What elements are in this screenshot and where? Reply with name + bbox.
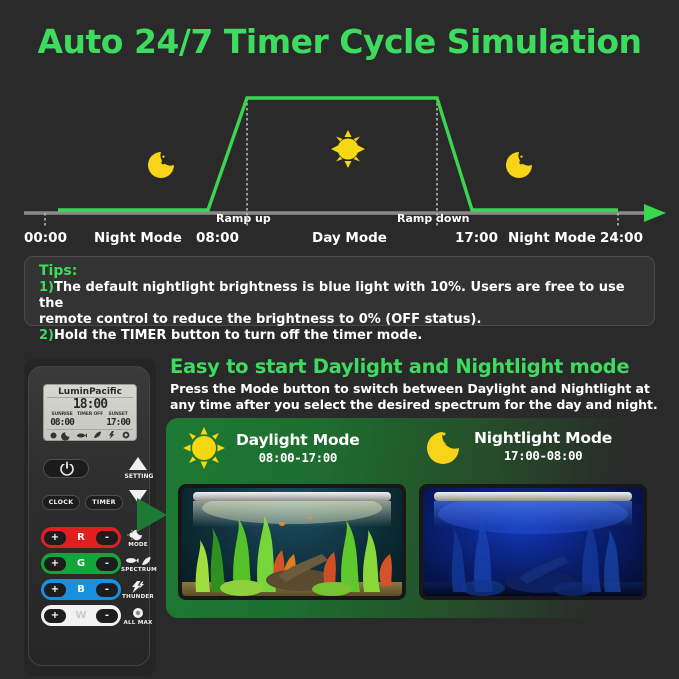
green-channel-label: G xyxy=(77,558,85,569)
red-plus-button[interactable]: + xyxy=(44,531,66,545)
chart-svg xyxy=(0,82,679,247)
daylight-mode-text: Daylight Mode 08:00-17:00 xyxy=(236,431,360,465)
tips-line-2: remote control to reduce the brightness … xyxy=(39,312,642,328)
white-channel-label: W xyxy=(75,610,86,621)
tips-number-2: 2) xyxy=(39,328,54,343)
tick-label-0800: 08:00 xyxy=(196,230,239,246)
moon-icon xyxy=(148,152,174,178)
lcd-sunset-col: SUNSET 17:00 xyxy=(104,412,132,428)
daylight-aquarium-image xyxy=(178,484,406,600)
spectrum-label: SPECTRUM xyxy=(121,567,157,573)
tips-text-1: The default nightlight brightness is blu… xyxy=(39,280,625,311)
spectrum-icon xyxy=(125,555,151,566)
white-channel-row[interactable]: + W - xyxy=(41,605,121,626)
daylight-mode-header: Daylight Mode 08:00-17:00 xyxy=(182,426,360,470)
axis-arrow-icon xyxy=(644,204,666,222)
setting-label: SETTING xyxy=(121,473,157,480)
moon-icon xyxy=(424,426,464,466)
red-channel-row[interactable]: + R - xyxy=(41,527,121,548)
thunder-button[interactable]: THUNDER xyxy=(121,581,155,600)
easy-sub-line-2: after you select the desired spectrum fo… xyxy=(236,397,658,412)
nightlight-mode-text: Nightlight Mode 17:00-08:00 xyxy=(474,429,612,463)
nightlight-light-glow xyxy=(434,501,632,527)
blue-channel-row[interactable]: + B - xyxy=(41,579,121,600)
mode-comparison-panel: Daylight Mode 08:00-17:00 Nightlight Mod… xyxy=(166,418,662,618)
timer-button[interactable]: TIMER xyxy=(85,495,123,510)
lcd-caption-row: SUNRISE 08:00 TIMER OFF SUNSET 17:00 xyxy=(47,412,133,428)
callout-pointer-icon xyxy=(137,498,167,532)
sun-icon xyxy=(331,130,365,168)
page-title: Auto 24/7 Timer Cycle Simulation xyxy=(0,22,679,61)
remote-lcd-screen: LuminPacific 18:00 SUNRISE 08:00 TIMER O… xyxy=(43,384,137,441)
lcd-timer-value xyxy=(76,418,104,428)
tick-label-1700: 17:00 xyxy=(455,230,498,246)
lcd-sunrise-col: SUNRISE 08:00 xyxy=(48,412,76,428)
ramp-down-label: Ramp down xyxy=(397,212,469,225)
daylight-led-bar xyxy=(193,492,391,501)
lcd-main-time: 18:00 xyxy=(47,398,133,412)
thunder-icon xyxy=(108,431,116,439)
tips-box: Tips: 1)The default nightlight brightnes… xyxy=(24,256,655,326)
lcd-timer-col: TIMER OFF xyxy=(76,412,104,428)
power-button[interactable] xyxy=(43,459,89,478)
fish-icon xyxy=(76,432,87,439)
zone-label-day: Day Mode xyxy=(312,230,387,246)
nightlight-aquarium-image xyxy=(419,484,647,600)
zone-label-night-1: Night Mode xyxy=(94,230,182,246)
lcd-status-icon-row xyxy=(47,429,133,440)
tick-label-0000: 00:00 xyxy=(24,230,67,246)
tips-number-1: 1) xyxy=(39,280,54,295)
dot-icon xyxy=(50,432,57,439)
moon-icon xyxy=(506,152,532,178)
tips-text-2: Hold the TIMER button to turn off the ti… xyxy=(54,328,422,343)
remote-control[interactable]: LuminPacific 18:00 SUNRISE 08:00 TIMER O… xyxy=(28,366,150,666)
zone-label-night-2: Night Mode xyxy=(508,230,596,246)
nightlight-mode-header: Nightlight Mode 17:00-08:00 xyxy=(424,426,612,466)
green-channel-row[interactable]: + G - xyxy=(41,553,121,574)
easy-start-subtext: Press the Mode button to switch between … xyxy=(170,381,670,413)
timer-cycle-chart: Ramp up Ramp down 00:00 Night Mode 08:00… xyxy=(0,82,679,247)
all-max-button[interactable]: ALL MAX xyxy=(121,607,155,626)
daylight-mode-time: 08:00-17:00 xyxy=(236,450,360,465)
spectrum-button[interactable]: SPECTRUM xyxy=(121,555,155,573)
tips-line-1: 1)The default nightlight brightness is b… xyxy=(39,280,642,312)
thunder-label: THUNDER xyxy=(122,594,154,600)
all-max-label: ALL MAX xyxy=(123,620,152,626)
plant-icon xyxy=(93,431,102,439)
nightlight-mode-title: Nightlight Mode xyxy=(474,429,612,448)
brightness-curve xyxy=(58,98,618,210)
nightlight-led-bar xyxy=(434,492,632,501)
nightlight-mode-time: 17:00-08:00 xyxy=(474,448,612,463)
lcd-sunset-value: 17:00 xyxy=(104,418,132,428)
mode-label: MODE xyxy=(128,542,148,548)
lcd-sunrise-value: 08:00 xyxy=(48,418,76,428)
tick-label-2400: 24:00 xyxy=(600,230,643,246)
daylight-mode-title: Daylight Mode xyxy=(236,431,360,450)
sun-icon xyxy=(182,426,226,470)
green-plus-button[interactable]: + xyxy=(44,557,66,571)
blue-minus-button[interactable]: - xyxy=(96,583,118,597)
easy-start-heading: Easy to start Daylight and Nightlight mo… xyxy=(170,355,629,378)
white-plus-button[interactable]: + xyxy=(44,609,66,623)
blue-channel-label: B xyxy=(77,584,85,595)
ramp-up-label: Ramp up xyxy=(216,212,271,225)
allmax-icon xyxy=(122,431,130,439)
daylight-light-glow xyxy=(193,501,391,527)
red-minus-button[interactable]: - xyxy=(96,531,118,545)
green-minus-button[interactable]: - xyxy=(96,557,118,571)
power-icon xyxy=(44,460,90,477)
setting-up-button[interactable] xyxy=(129,457,147,470)
thunder-icon xyxy=(130,581,146,593)
allmax-icon xyxy=(131,607,145,619)
tips-heading: Tips: xyxy=(39,263,642,280)
white-minus-button[interactable]: - xyxy=(96,609,118,623)
moon-icon xyxy=(63,431,70,439)
red-channel-label: R xyxy=(77,532,85,543)
tips-line-3: 2)Hold the TIMER button to turn off the … xyxy=(39,328,642,344)
blue-plus-button[interactable]: + xyxy=(44,583,66,597)
clock-button[interactable]: CLOCK xyxy=(42,495,80,510)
